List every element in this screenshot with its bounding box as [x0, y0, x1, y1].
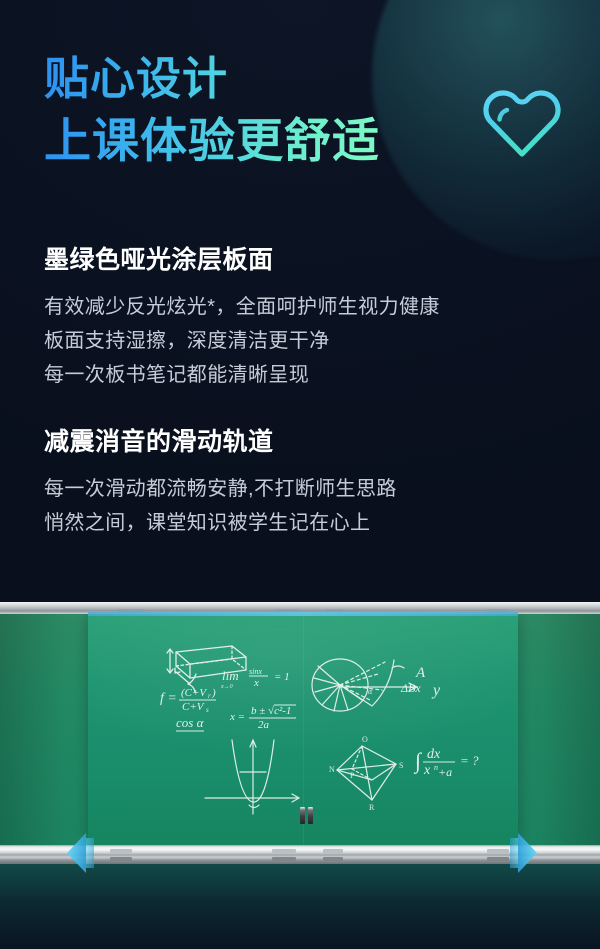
section-1-line-2: 板面支持湿擦，深度清洁更干净	[44, 324, 564, 358]
section-2-heading: 减震消音的滑动轨道	[44, 422, 564, 458]
feature-sections: 墨绿色哑光涂层板面 有效减少反光炫光*，全面呵护师生视力健康 板面支持湿擦，深度…	[44, 240, 564, 570]
heart-icon	[478, 76, 566, 164]
feature-section-2: 减震消音的滑动轨道 每一次滑动都流畅安静,不打断师生思路 悄然之间，课堂知识被学…	[44, 422, 564, 540]
hero-title-line-2: 上课体验更舒适	[44, 110, 380, 172]
slide-right-arrow[interactable]	[508, 830, 538, 876]
promo-page: 贴心设计 上课体验更舒适 墨绿色哑光涂层板面 有效减少反光炫光*，全面呵护师生视…	[0, 0, 600, 949]
slide-left-arrow[interactable]	[66, 830, 96, 876]
section-1-heading: 墨绿色哑光涂层板面	[44, 240, 564, 276]
board-clip-right	[308, 807, 313, 824]
hero-section: 贴心设计 上课体验更舒适 墨绿色哑光涂层板面 有效减少反光炫光*，全面呵护师生视…	[0, 0, 600, 602]
below-board-glow	[0, 864, 600, 949]
hero-title-line-1: 贴心设计	[44, 48, 380, 110]
hero-title: 贴心设计 上课体验更舒适	[44, 48, 380, 172]
section-2-line-2: 悄然之间，课堂知识被学生记在心上	[44, 506, 564, 540]
board-clip-left	[300, 807, 305, 824]
top-rail-highlight	[88, 612, 518, 616]
blackboard-photo: lim x→0 sinx x = 1 f = (C+V r ) C+V s co…	[0, 602, 600, 949]
section-2-line-1: 每一次滑动都流畅安静,不打断师生思路	[44, 472, 564, 506]
feature-section-1: 墨绿色哑光涂层板面 有效减少反光炫光*，全面呵护师生视力健康 板面支持湿擦，深度…	[44, 240, 564, 392]
section-1-line-1: 有效减少反光炫光*，全面呵护师生视力健康	[44, 290, 564, 324]
section-1-line-3: 每一次板书笔记都能清晰呈现	[44, 358, 564, 392]
